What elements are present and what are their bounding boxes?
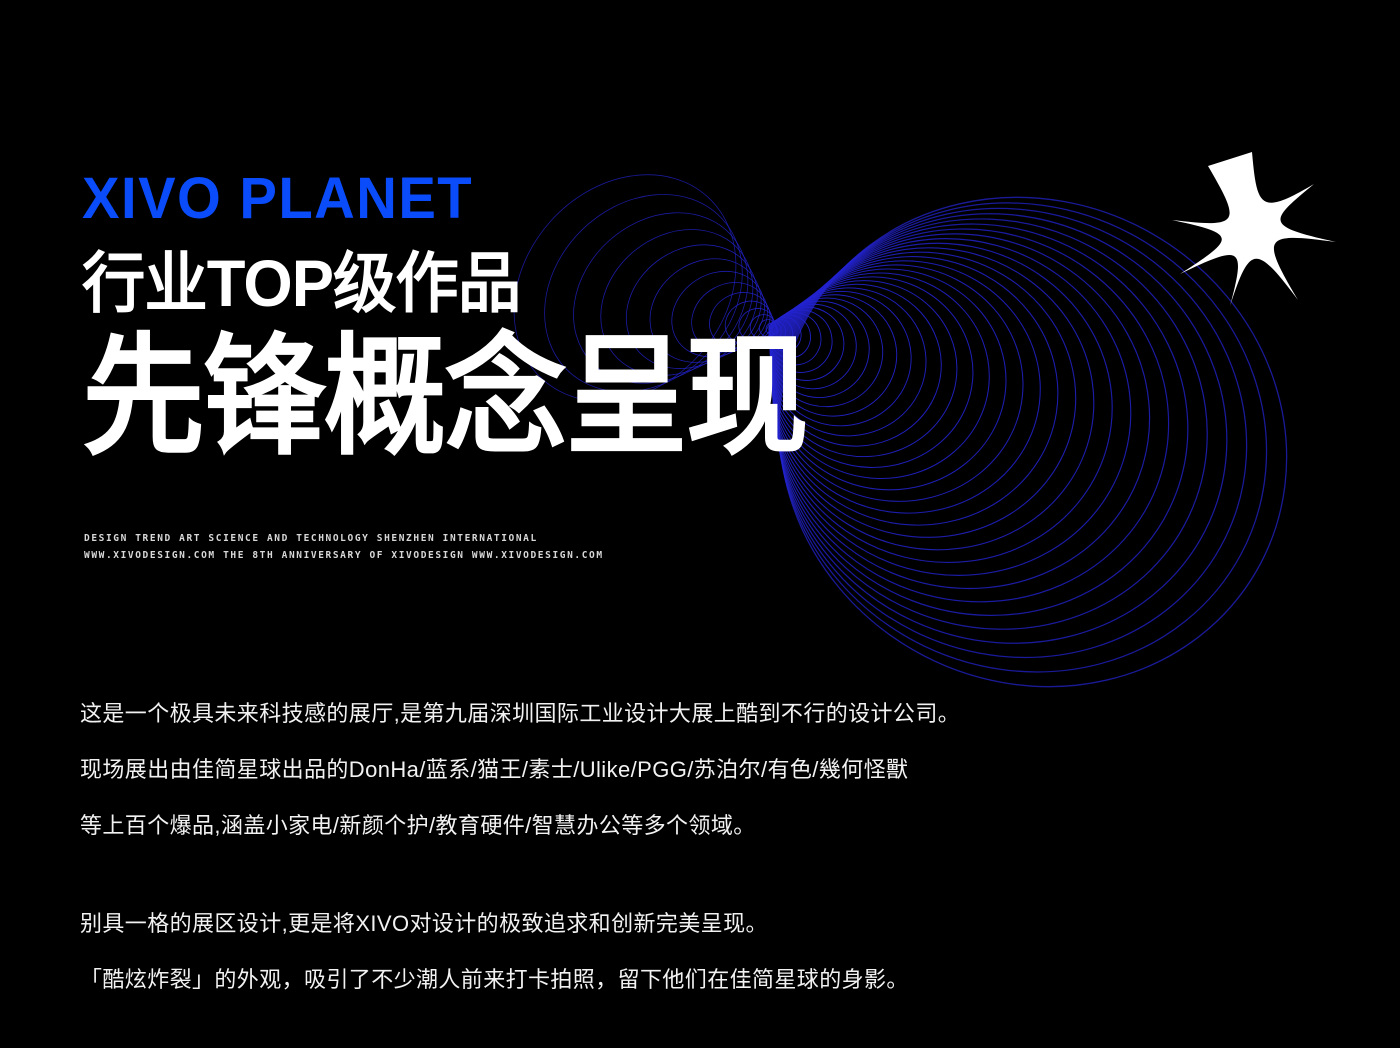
body-paragraph-one: 这是一个极具未来科技感的展厅,是第九届深圳国际工业设计大展上酷到不行的设计公司。… xyxy=(80,686,960,854)
body-line: 别具一格的展区设计,更是将XIVO对设计的极致追求和创新完美呈现。 xyxy=(80,896,909,952)
body-paragraph-two: 别具一格的展区设计,更是将XIVO对设计的极致追求和创新完美呈现。 「酷炫炸裂」… xyxy=(80,896,909,1008)
body-line: 等上百个爆品,涵盖小家电/新颜个护/教育硬件/智慧办公等多个领域。 xyxy=(80,798,960,854)
spiral-ring-vortex xyxy=(0,0,1400,1048)
caption-line-2: WWW.XIVODESIGN.COM THE 8TH ANNIVERSARY O… xyxy=(84,547,604,564)
page-title: 先锋概念呈现 xyxy=(82,332,807,463)
poster-canvas: XIVO PLANET 行业TOP级作品 先锋概念呈现 DESIGN TREND… xyxy=(0,0,1400,1048)
caption-line-1: DESIGN TREND ART SCIENCE AND TECHNOLOGY … xyxy=(84,530,604,547)
body-line: 现场展出由佳简星球出品的DonHa/蓝系/猫王/素士/Ulike/PGG/苏泊尔… xyxy=(80,742,960,798)
brand-title: XIVO PLANET xyxy=(82,170,792,228)
headline-block: XIVO PLANET 行业TOP级作品 先锋概念呈现 xyxy=(82,170,814,456)
body-line: 这是一个极具未来科技感的展厅,是第九届深圳国际工业设计大展上酷到不行的设计公司。 xyxy=(80,686,960,742)
body-line: 「酷炫炸裂」的外观，吸引了不少潮人前来打卡拍照，留下他们在佳简星球的身影。 xyxy=(80,952,909,1008)
subtitle: 行业TOP级作品 xyxy=(82,250,785,316)
four-point-sparkle xyxy=(1172,152,1336,306)
techno-caption: DESIGN TREND ART SCIENCE AND TECHNOLOGY … xyxy=(84,530,604,564)
